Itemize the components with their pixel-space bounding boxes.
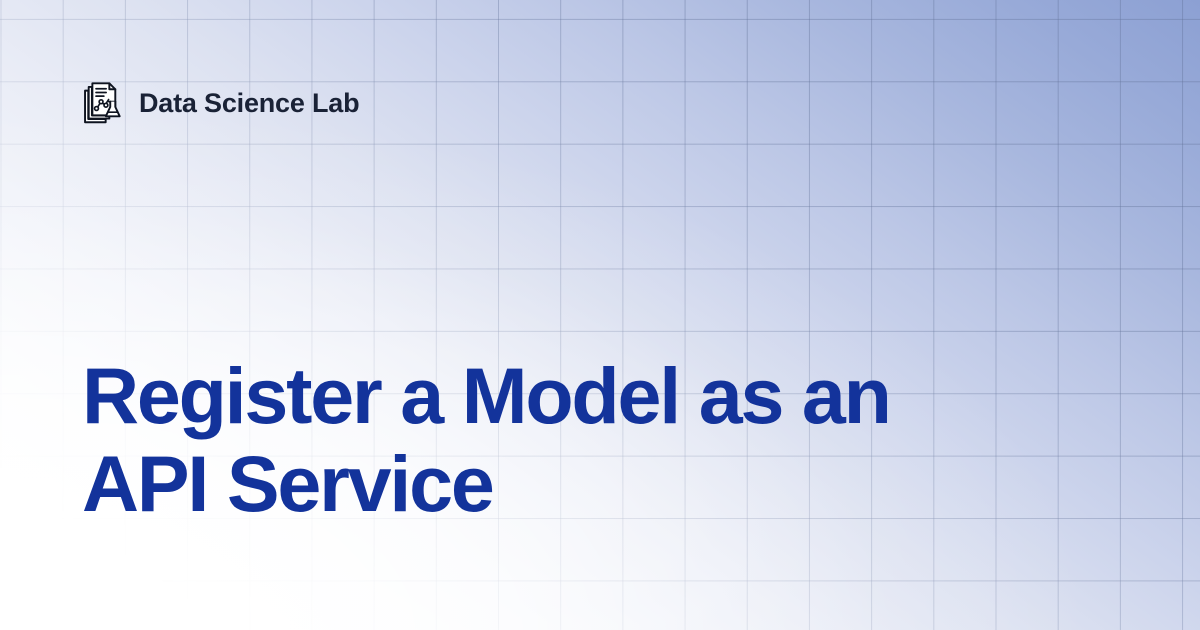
page-title: Register a Model as an API Service: [82, 352, 1082, 528]
page-title-line-2: API Service: [82, 440, 1082, 528]
banner-root: Data Science Lab Register a Model as an …: [0, 0, 1200, 630]
banner-content: Data Science Lab Register a Model as an …: [0, 0, 1200, 630]
page-title-line-1: Register a Model as an: [82, 352, 1082, 440]
document-flask-data-science-icon: [80, 81, 124, 125]
brand-name: Data Science Lab: [139, 90, 359, 117]
brand-lockup: Data Science Lab: [80, 80, 359, 126]
